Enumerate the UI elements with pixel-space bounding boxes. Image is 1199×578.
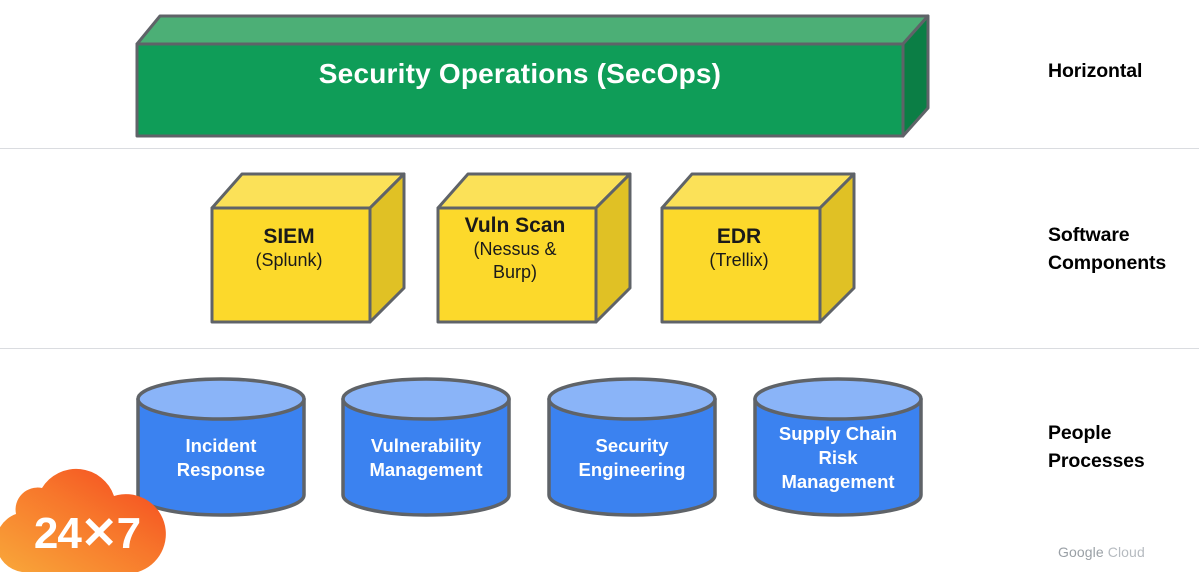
secops-horizontal-box[interactable]: Security Operations (SecOps) — [135, 14, 930, 138]
software-component-vuln-scan[interactable]: Vuln Scan (Nessus & Burp) — [436, 172, 632, 324]
software-component-edr[interactable]: EDR (Trellix) — [660, 172, 856, 324]
cube-shape — [436, 172, 632, 324]
cylinder-shape — [752, 377, 924, 517]
watermark-word-cloud: Cloud — [1108, 544, 1145, 560]
cylinder-shape — [546, 377, 718, 517]
watermark-word-google: Google — [1058, 544, 1104, 560]
band-label-people-processes: People Processes — [1048, 419, 1199, 475]
process-vulnerability-management[interactable]: Vulnerability Management — [340, 377, 512, 517]
process-supply-chain-risk-management[interactable]: Supply Chain Risk Management — [752, 377, 924, 517]
cube-shape — [660, 172, 856, 324]
band-divider-1 — [0, 148, 1199, 149]
cloud-icon — [0, 460, 180, 578]
google-cloud-watermark: Google Cloud — [1058, 544, 1145, 560]
process-security-engineering[interactable]: Security Engineering — [546, 377, 718, 517]
secops-box-shape — [135, 14, 930, 138]
band-divider-2 — [0, 348, 1199, 349]
cylinder-shape — [340, 377, 512, 517]
badge-24x7: 24✕7 — [0, 460, 180, 578]
software-component-siem[interactable]: SIEM (Splunk) — [210, 172, 406, 324]
band-label-horizontal: Horizontal — [1048, 57, 1199, 85]
diagram-canvas: Security Operations (SecOps) Horizontal … — [0, 0, 1199, 577]
band-label-software-components: Software Components — [1048, 221, 1199, 277]
cube-shape — [210, 172, 406, 324]
